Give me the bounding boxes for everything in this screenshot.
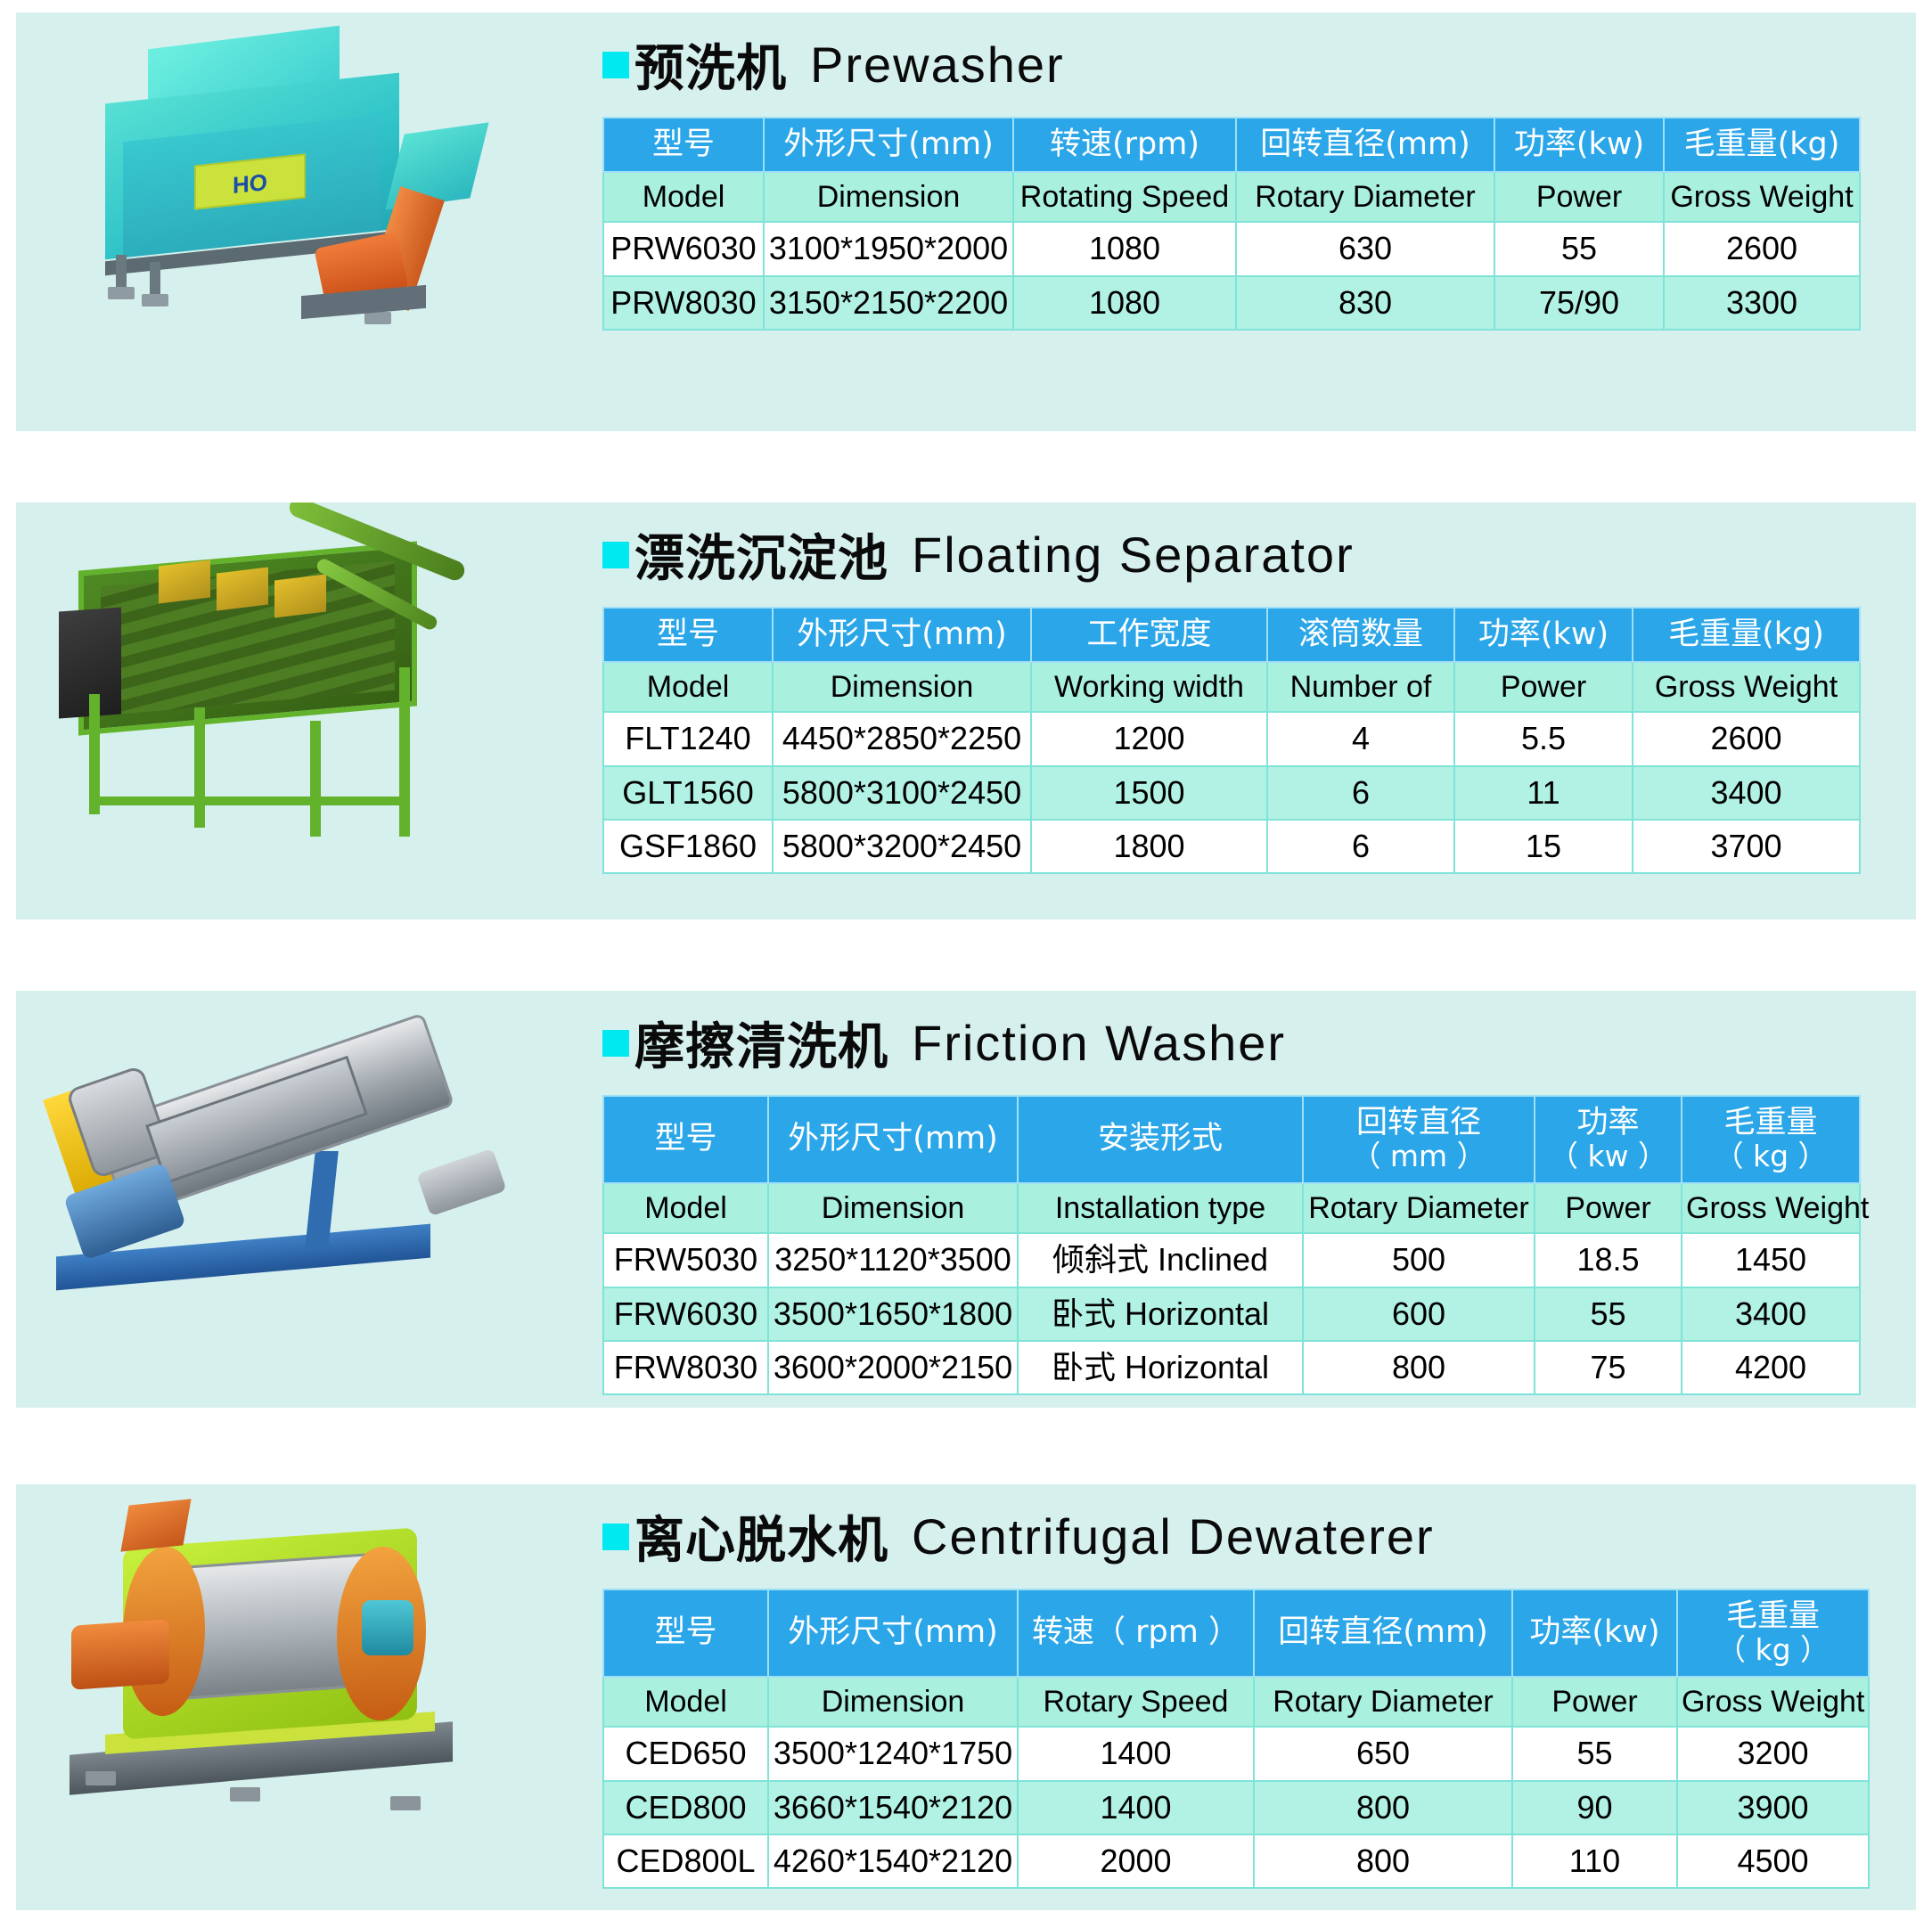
header-cell: 毛重量(kg) <box>1633 608 1860 662</box>
prewasher-illustration: HO <box>16 12 595 431</box>
friction-washer-title-en: Friction Washer <box>912 1014 1286 1072</box>
header-cell: 转速（ rpm ） <box>1018 1589 1254 1677</box>
dewaterer-motor <box>71 1619 169 1690</box>
prewasher-leg <box>150 262 160 296</box>
prewasher-content: 预洗机 Prewasher 型号 外形尺寸(mm) 转速(rpm) 回转直径(m… <box>595 12 1916 431</box>
floating-separator-title-cn: 漂洗沉淀池 <box>634 519 888 591</box>
cell-weight: 3400 <box>1682 1287 1860 1341</box>
cell-dimension: 5800*3100*2450 <box>773 766 1031 820</box>
cell-working-width: 1800 <box>1031 820 1267 873</box>
cell-working-width: 1500 <box>1031 766 1267 820</box>
prewasher-leg <box>116 255 127 289</box>
header-cell: 功率(kw) <box>1512 1589 1677 1677</box>
header-cell: 回转直径 （ mm ） <box>1303 1096 1535 1183</box>
table-header-row-cn: 型号 外形尺寸(mm) 转速（ rpm ） 回转直径(mm) 功率(kw) 毛重… <box>603 1589 1869 1677</box>
cell-weight: 3200 <box>1677 1727 1869 1780</box>
centrifugal-dewaterer-title: 离心脱水机 Centrifugal Dewaterer <box>602 1500 1916 1573</box>
header-cell: Installation type <box>1018 1183 1303 1233</box>
header-cell: Model <box>603 1183 768 1233</box>
cell-model: PRW6030 <box>603 222 764 275</box>
header-cell: 型号 <box>603 608 773 662</box>
separator-cross-brace <box>89 797 410 805</box>
centrifugal-dewaterer-illustration <box>16 1484 595 1910</box>
header-cell: Dimension <box>764 172 1013 222</box>
header-cell: Dimension <box>768 1677 1018 1727</box>
section-centrifugal-dewaterer: 离心脱水机 Centrifugal Dewaterer 型号 外形尺寸(mm) … <box>16 1484 1916 1910</box>
cell-model: CED800L <box>603 1834 768 1888</box>
header-cell: Dimension <box>773 662 1031 712</box>
cell-model: FRW5030 <box>603 1233 768 1287</box>
table-row: PRW6030 3100*1950*2000 1080 630 55 2600 <box>603 222 1860 275</box>
cell-power: 75/90 <box>1494 276 1664 330</box>
prewasher-foot-pad <box>108 287 135 299</box>
floating-separator-spec-table: 型号 外形尺寸(mm) 工作宽度 滚筒数量 功率(kw) 毛重量(kg) Mod… <box>602 607 1861 874</box>
header-cell: Gross Weight <box>1633 662 1860 712</box>
header-cell: 型号 <box>603 1589 768 1677</box>
cell-power: 75 <box>1535 1341 1682 1394</box>
header-cell-main: 回转直径 <box>1356 1105 1481 1140</box>
separator-support-post <box>310 721 321 837</box>
dewaterer-bearing-cap <box>362 1600 413 1655</box>
header-cell: Rotary Speed <box>1018 1677 1254 1727</box>
cell-model: CED800 <box>603 1781 768 1834</box>
header-cell: 功率 （ kw ） <box>1535 1096 1682 1183</box>
table-header-row-en: Model Dimension Installation type Rotary… <box>603 1183 1860 1233</box>
table-header-row-en: Model Dimension Working width Number of … <box>603 662 1860 712</box>
cell-diameter: 830 <box>1236 276 1494 330</box>
cell-number-of: 4 <box>1267 712 1454 765</box>
header-cell: Dimension <box>768 1183 1018 1233</box>
section-prewasher: HO 预洗机 Prewasher <box>16 12 1916 431</box>
cell-model: FRW6030 <box>603 1287 768 1341</box>
table-header-row-en: Model Dimension Rotary Speed Rotary Diam… <box>603 1677 1869 1727</box>
square-bullet-icon <box>602 542 629 568</box>
header-cell-main: 功率 <box>1576 1105 1639 1140</box>
cell-weight: 1450 <box>1682 1233 1860 1287</box>
centrifugal-dewaterer-content: 离心脱水机 Centrifugal Dewaterer 型号 外形尺寸(mm) … <box>595 1484 1916 1910</box>
centrifugal-dewaterer-machine-photo <box>16 1484 595 1910</box>
separator-hopper <box>159 560 210 603</box>
header-cell: Rotating Speed <box>1013 172 1236 222</box>
header-cell: 外形尺寸(mm) <box>768 1096 1018 1183</box>
header-cell: Power <box>1494 172 1664 222</box>
prewasher-title: 预洗机 Prewasher <box>602 29 1916 101</box>
cell-dimension: 3500*1650*1800 <box>768 1287 1018 1341</box>
header-cell: Working width <box>1031 662 1267 712</box>
header-cell: 安装形式 <box>1018 1096 1303 1183</box>
cell-dimension: 3100*1950*2000 <box>764 222 1013 275</box>
separator-support-post <box>194 707 205 828</box>
header-cell: Rotary Diameter <box>1254 1677 1512 1727</box>
cell-power: 11 <box>1454 766 1633 820</box>
dewaterer-foot-pad <box>230 1787 260 1802</box>
floating-separator-content: 漂洗沉淀池 Floating Separator 型号 外形尺寸(mm) 工作宽… <box>595 502 1916 919</box>
header-cell: Number of <box>1267 662 1454 712</box>
cell-dimension: 3250*1120*3500 <box>768 1233 1018 1287</box>
cell-weight: 3400 <box>1633 766 1860 820</box>
cell-diameter: 650 <box>1254 1727 1512 1780</box>
section-friction-washer: 摩擦清洗机 Friction Washer 型号 外形尺寸(mm) 安装形式 回… <box>16 991 1916 1408</box>
header-cell: 滚筒数量 <box>1267 608 1454 662</box>
separator-hopper <box>217 567 268 610</box>
table-row: FRW8030 3600*2000*2150 卧式 Horizontal 800… <box>603 1341 1860 1394</box>
header-cell-main: 毛重量 <box>1726 1598 1820 1634</box>
floating-separator-illustration <box>16 502 595 919</box>
friction-washer-machine-photo <box>16 991 595 1408</box>
header-cell: Rotary Diameter <box>1303 1183 1535 1233</box>
cell-diameter: 800 <box>1254 1781 1512 1834</box>
prewasher-foot-pad <box>142 294 168 306</box>
header-cell-main: 毛重量 <box>1723 1105 1817 1140</box>
cell-diameter: 630 <box>1236 222 1494 275</box>
header-cell: Gross Weight <box>1682 1183 1860 1233</box>
cell-dimension: 3660*1540*2120 <box>768 1781 1018 1834</box>
floating-separator-title-en: Floating Separator <box>912 526 1355 584</box>
cell-power: 55 <box>1535 1287 1682 1341</box>
header-cell: 回转直径(mm) <box>1236 118 1494 172</box>
cell-dimension: 3150*2150*2200 <box>764 276 1013 330</box>
square-bullet-icon <box>602 1524 629 1550</box>
cell-power: 15 <box>1454 820 1633 873</box>
header-cell: 型号 <box>603 1096 768 1183</box>
cell-speed: 1080 <box>1013 222 1236 275</box>
cell-model: FRW8030 <box>603 1341 768 1394</box>
centrifugal-dewaterer-spec-table: 型号 外形尺寸(mm) 转速（ rpm ） 回转直径(mm) 功率(kw) 毛重… <box>602 1589 1870 1889</box>
header-cell: 型号 <box>603 118 764 172</box>
header-cell: 外形尺寸(mm) <box>764 118 1013 172</box>
header-cell: 毛重量 （ kg ） <box>1682 1096 1860 1183</box>
header-cell: 功率(kw) <box>1454 608 1633 662</box>
cell-power: 110 <box>1512 1834 1677 1888</box>
cell-weight: 2600 <box>1633 712 1860 765</box>
prewasher-title-cn: 预洗机 <box>634 29 787 101</box>
cell-weight: 4500 <box>1677 1834 1869 1888</box>
cell-power: 55 <box>1512 1727 1677 1780</box>
cell-weight: 4200 <box>1682 1341 1860 1394</box>
header-cell: Power <box>1512 1677 1677 1727</box>
cell-working-width: 1200 <box>1031 712 1267 765</box>
cell-dimension: 4260*1540*2120 <box>768 1834 1018 1888</box>
cell-weight: 3700 <box>1633 820 1860 873</box>
cell-dimension: 3500*1240*1750 <box>768 1727 1018 1780</box>
header-cell-unit: （ kg ） <box>1686 1140 1855 1173</box>
cell-weight: 3300 <box>1664 276 1860 330</box>
table-header-row-cn: 型号 外形尺寸(mm) 工作宽度 滚筒数量 功率(kw) 毛重量(kg) <box>603 608 1860 662</box>
cell-number-of: 6 <box>1267 820 1454 873</box>
cell-number-of: 6 <box>1267 766 1454 820</box>
cell-power: 90 <box>1512 1781 1677 1834</box>
header-cell: 毛重量 （ kg ） <box>1677 1589 1869 1677</box>
square-bullet-icon <box>602 1030 629 1057</box>
section-floating-separator: 漂洗沉淀池 Floating Separator 型号 外形尺寸(mm) 工作宽… <box>16 502 1916 919</box>
cell-model: PRW8030 <box>603 276 764 330</box>
separator-support-post <box>399 667 410 837</box>
prewasher-machine-photo: HO <box>16 12 595 431</box>
header-cell: 功率(kw) <box>1494 118 1664 172</box>
header-cell: 回转直径(mm) <box>1254 1589 1512 1677</box>
dewaterer-foot-pad <box>390 1796 421 1810</box>
header-cell-unit: （ kw ） <box>1539 1140 1677 1173</box>
floating-separator-title: 漂洗沉淀池 Floating Separator <box>602 519 1916 591</box>
cell-power: 18.5 <box>1535 1233 1682 1287</box>
friction-washer-content: 摩擦清洗机 Friction Washer 型号 外形尺寸(mm) 安装形式 回… <box>595 991 1916 1408</box>
header-cell: 外形尺寸(mm) <box>768 1589 1018 1677</box>
cell-weight: 2600 <box>1664 222 1860 275</box>
friction-washer-spec-table: 型号 外形尺寸(mm) 安装形式 回转直径 （ mm ） 功率 （ kw ） 毛… <box>602 1095 1861 1395</box>
prewasher-foot-pad <box>364 312 391 324</box>
floating-separator-machine-photo <box>16 502 595 919</box>
header-cell: Model <box>603 1677 768 1727</box>
table-row: FLT1240 4450*2850*2250 1200 4 5.5 2600 <box>603 712 1860 765</box>
header-cell: Model <box>603 662 773 712</box>
header-cell: 外形尺寸(mm) <box>773 608 1031 662</box>
dewaterer-inlet-hopper <box>120 1499 191 1551</box>
table-row: GSF1860 5800*3200*2450 1800 6 15 3700 <box>603 820 1860 873</box>
header-cell: 转速(rpm) <box>1013 118 1236 172</box>
cell-model: CED650 <box>603 1727 768 1780</box>
cell-model: FLT1240 <box>603 712 773 765</box>
cell-power: 55 <box>1494 222 1664 275</box>
table-row: CED800 3660*1540*2120 1400 800 90 3900 <box>603 1781 1869 1834</box>
centrifugal-dewaterer-title-cn: 离心脱水机 <box>634 1500 888 1573</box>
cell-speed: 1400 <box>1018 1727 1254 1780</box>
cell-diameter: 600 <box>1303 1287 1535 1341</box>
prewasher-motor-plinth <box>301 285 426 319</box>
cell-diameter: 800 <box>1303 1341 1535 1394</box>
table-row: CED650 3500*1240*1750 1400 650 55 3200 <box>603 1727 1869 1780</box>
header-cell: Model <box>603 172 764 222</box>
table-row: FRW6030 3500*1650*1800 卧式 Horizontal 600… <box>603 1287 1860 1341</box>
table-row: CED800L 4260*1540*2120 2000 800 110 4500 <box>603 1834 1869 1888</box>
table-header-row-cn: 型号 外形尺寸(mm) 安装形式 回转直径 （ mm ） 功率 （ kw ） 毛… <box>603 1096 1860 1183</box>
cell-installation-type: 卧式 Horizontal <box>1018 1341 1303 1394</box>
table-row: PRW8030 3150*2150*2200 1080 830 75/90 33… <box>603 276 1860 330</box>
separator-hopper <box>274 574 326 617</box>
friction-washer-outlet <box>416 1148 506 1217</box>
cell-power: 5.5 <box>1454 712 1633 765</box>
cell-diameter: 800 <box>1254 1834 1512 1888</box>
prewasher-title-en: Prewasher <box>810 36 1065 94</box>
cell-model: GLT1560 <box>603 766 773 820</box>
header-cell: Gross Weight <box>1677 1677 1869 1727</box>
header-cell: 工作宽度 <box>1031 608 1267 662</box>
cell-weight: 3900 <box>1677 1781 1869 1834</box>
cell-model: GSF1860 <box>603 820 773 873</box>
table-header-row-en: Model Dimension Rotating Speed Rotary Di… <box>603 172 1860 222</box>
friction-washer-title: 摩擦清洗机 Friction Washer <box>602 1007 1916 1079</box>
cell-speed: 1400 <box>1018 1781 1254 1834</box>
cell-dimension: 5800*3200*2450 <box>773 820 1031 873</box>
cell-dimension: 3600*2000*2150 <box>768 1341 1018 1394</box>
square-bullet-icon <box>602 52 629 78</box>
header-cell: Power <box>1454 662 1633 712</box>
cell-installation-type: 倾斜式 Inclined <box>1018 1233 1303 1287</box>
header-cell: Power <box>1535 1183 1682 1233</box>
centrifugal-dewaterer-title-en: Centrifugal Dewaterer <box>912 1507 1435 1565</box>
header-cell: 毛重量(kg) <box>1664 118 1860 172</box>
dewaterer-foot-pad <box>86 1771 116 1785</box>
header-cell-unit: （ mm ） <box>1307 1140 1530 1173</box>
cell-diameter: 500 <box>1303 1233 1535 1287</box>
header-cell: Gross Weight <box>1664 172 1860 222</box>
cell-speed: 2000 <box>1018 1834 1254 1888</box>
header-cell-unit: （ kg ） <box>1682 1634 1864 1667</box>
cell-dimension: 4450*2850*2250 <box>773 712 1031 765</box>
cell-speed: 1080 <box>1013 276 1236 330</box>
table-row: FRW5030 3250*1120*3500 倾斜式 Inclined 500 … <box>603 1233 1860 1287</box>
prewasher-spec-table: 型号 外形尺寸(mm) 转速(rpm) 回转直径(mm) 功率(kw) 毛重量(… <box>602 117 1861 331</box>
catalog-page: HO 预洗机 Prewasher <box>0 0 1932 1920</box>
table-row: GLT1560 5800*3100*2450 1500 6 11 3400 <box>603 766 1860 820</box>
table-header-row-cn: 型号 外形尺寸(mm) 转速(rpm) 回转直径(mm) 功率(kw) 毛重量(… <box>603 118 1860 172</box>
friction-washer-title-cn: 摩擦清洗机 <box>634 1007 888 1079</box>
friction-washer-illustration <box>16 991 595 1408</box>
header-cell: Rotary Diameter <box>1236 172 1494 222</box>
cell-installation-type: 卧式 Horizontal <box>1018 1287 1303 1341</box>
